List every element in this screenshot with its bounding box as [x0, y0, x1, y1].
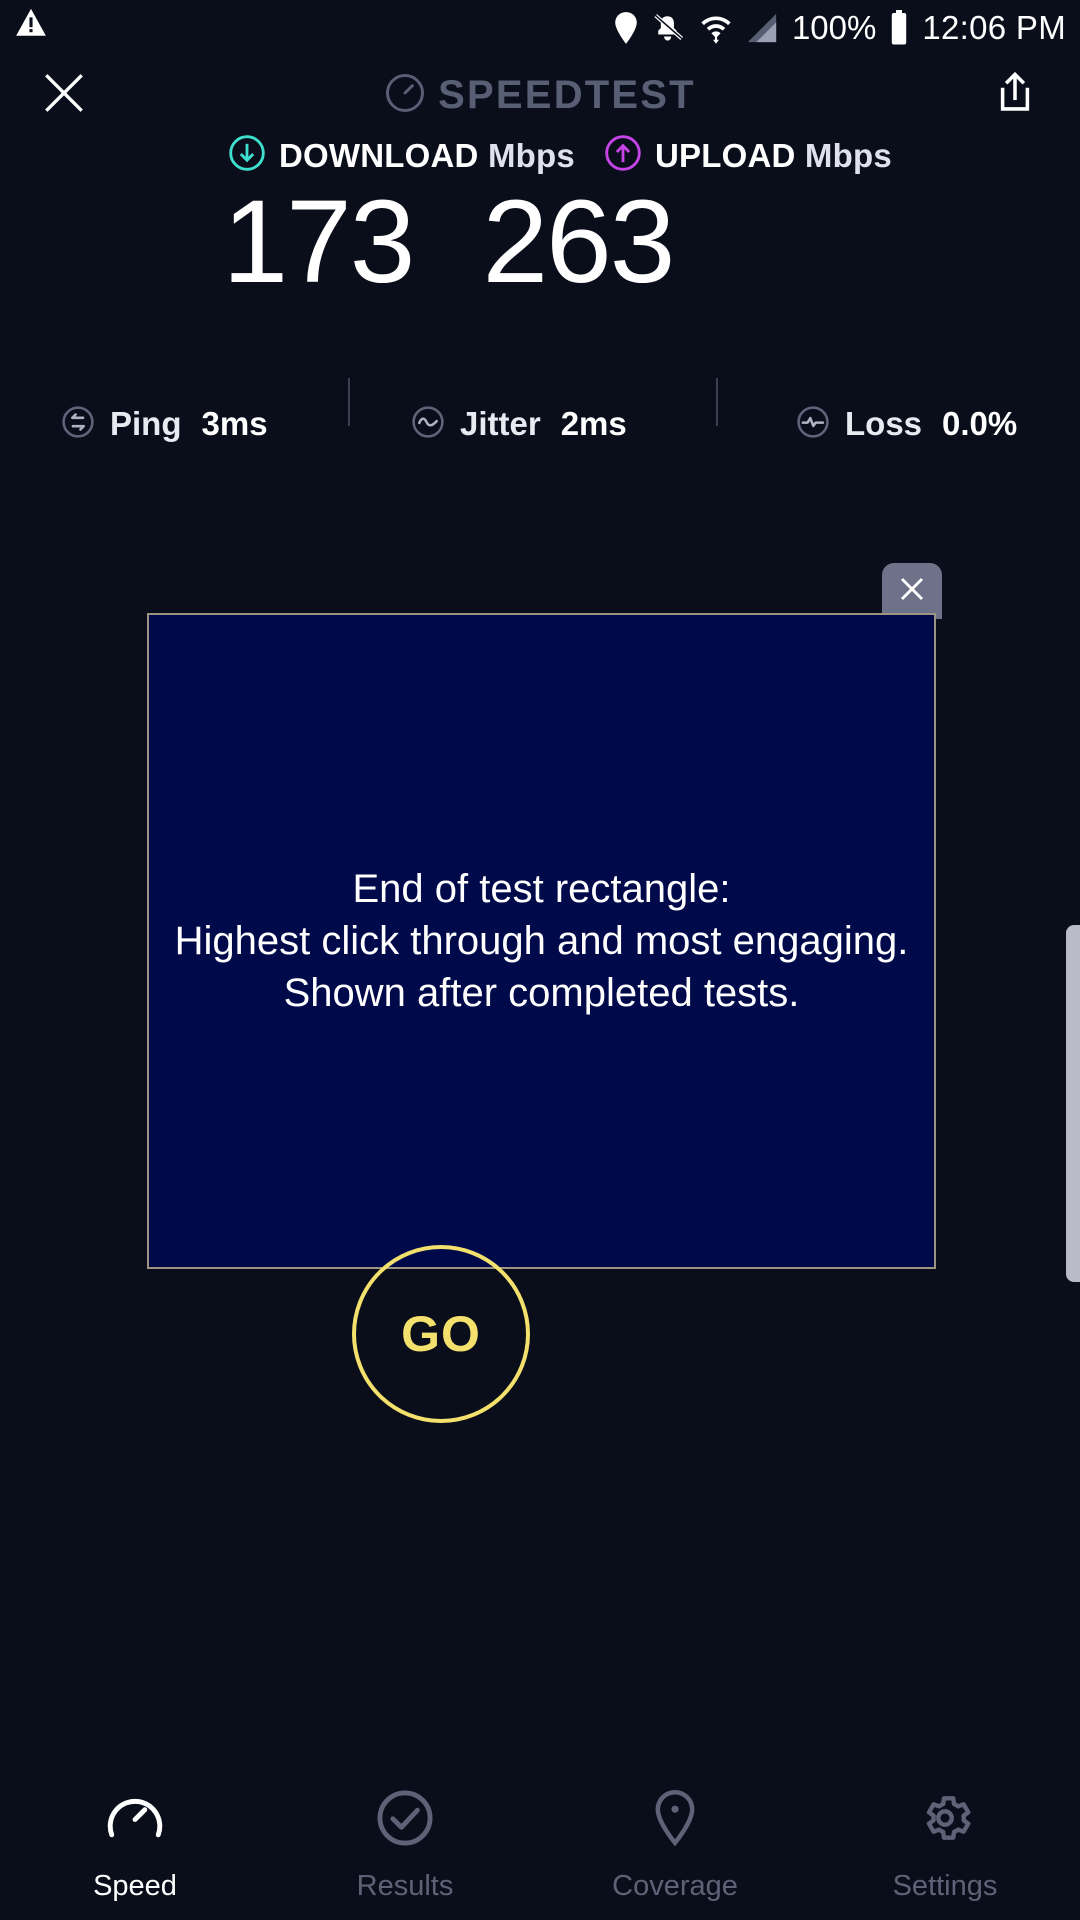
tab-speed[interactable]: Speed	[0, 1770, 270, 1920]
ad-text: End of test rectangle: Highest click thr…	[175, 863, 909, 1019]
ad-close-x-icon	[896, 573, 928, 610]
tab-coverage[interactable]: Coverage	[540, 1770, 810, 1920]
speedometer-icon	[104, 1787, 166, 1854]
go-button[interactable]: GO	[352, 1245, 530, 1423]
map-pin-icon	[644, 1787, 706, 1854]
tab-results-label: Results	[357, 1870, 454, 1903]
scrollbar-thumb[interactable]	[1066, 925, 1080, 1282]
speedtest-app-screen: 100% 12:06 PM	[0, 0, 1080, 1920]
check-circle-icon	[374, 1787, 436, 1854]
tab-coverage-label: Coverage	[612, 1870, 738, 1903]
advertisement-area: End of test rectangle: Highest click thr…	[0, 0, 1080, 1920]
bottom-navigation: Speed Results Coverage	[0, 1770, 1080, 1920]
tab-settings-label: Settings	[893, 1870, 998, 1903]
ad-banner[interactable]: End of test rectangle: Highest click thr…	[147, 613, 936, 1269]
tab-settings[interactable]: Settings	[810, 1770, 1080, 1920]
tab-speed-label: Speed	[93, 1870, 177, 1903]
tab-results[interactable]: Results	[270, 1770, 540, 1920]
go-button-label: GO	[401, 1305, 481, 1363]
gear-icon	[914, 1787, 976, 1854]
ad-close-button[interactable]	[882, 563, 942, 619]
